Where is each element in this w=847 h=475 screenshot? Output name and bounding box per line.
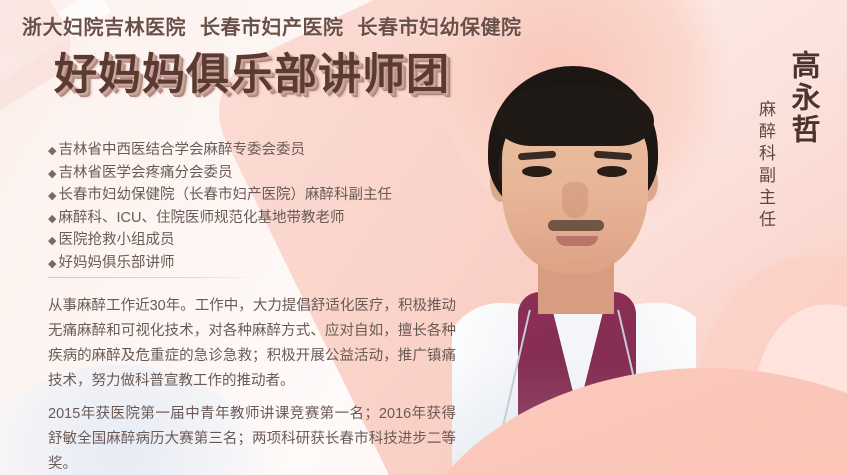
list-item: ◆ 麻醉科、ICU、住院医师规范化基地带教老师	[48, 208, 448, 231]
list-item: ◆ 长春市妇幼保健院（长春市妇产医院）麻醉科副主任	[48, 185, 448, 208]
list-item-label: 好妈妈俱乐部讲师	[58, 253, 174, 275]
list-item: ◆ 好妈妈俱乐部讲师	[48, 253, 448, 276]
list-item-label: 吉林省医学会疼痛分会委员	[58, 163, 232, 185]
section-divider	[48, 277, 256, 278]
list-item: ◆ 医院抢救小组成员	[48, 230, 448, 253]
portrait-nose	[562, 182, 588, 218]
list-item: ◆ 吉林省医学会疼痛分会委员	[48, 163, 448, 186]
portrait-eye-left	[522, 166, 552, 177]
diamond-bullet-icon: ◆	[48, 141, 56, 163]
awards-paragraph: 2015年获医院第一届中青年教师讲课竞赛第一名；2016年获得舒敏全国麻醉病历大…	[48, 402, 456, 475]
hospital-name-1: 浙大妇院吉林医院	[22, 17, 186, 39]
diamond-bullet-icon: ◆	[48, 209, 56, 231]
diamond-bullet-icon: ◆	[48, 254, 56, 276]
list-item-label: 麻醉科、ICU、住院医师规范化基地带教老师	[58, 208, 344, 230]
diamond-bullet-icon: ◆	[48, 186, 56, 208]
speaker-name: 高永哲	[787, 50, 819, 146]
credentials-list: ◆ 吉林省中西医结合学会麻醉专委会委员 ◆ 吉林省医学会疼痛分会委员 ◆ 长春市…	[48, 140, 448, 275]
hospital-names-header: 浙大妇院吉林医院长春市妇产医院长春市妇幼保健院	[22, 18, 522, 38]
diamond-bullet-icon: ◆	[48, 231, 56, 253]
list-item: ◆ 吉林省中西医结合学会麻醉专委会委员	[48, 140, 448, 163]
biography-paragraph: 从事麻醉工作近30年。工作中，大力提倡舒适化医疗，积极推动无痛麻醉和可视化技术，…	[48, 294, 456, 394]
portrait-eye-right	[597, 166, 627, 177]
list-item-label: 吉林省中西医结合学会麻醉专委会委员	[58, 140, 305, 162]
portrait-hair-fringe	[496, 86, 654, 146]
speaker-position: 麻醉科副主任	[756, 100, 775, 232]
page-title: 好妈妈俱乐部讲师团	[54, 54, 450, 97]
poster-canvas: 浙大妇院吉林医院长春市妇产医院长春市妇幼保健院 好妈妈俱乐部讲师团 ◆ 吉林省中…	[0, 0, 847, 475]
list-item-label: 医院抢救小组成员	[58, 230, 174, 252]
portrait-mouth	[556, 236, 598, 246]
portrait-moustache	[548, 220, 604, 231]
list-item-label: 长春市妇幼保健院（长春市妇产医院）麻醉科副主任	[58, 185, 392, 207]
hospital-name-3: 长春市妇幼保健院	[358, 17, 522, 39]
diamond-bullet-icon: ◆	[48, 164, 56, 186]
hospital-name-2: 长春市妇产医院	[200, 17, 344, 39]
